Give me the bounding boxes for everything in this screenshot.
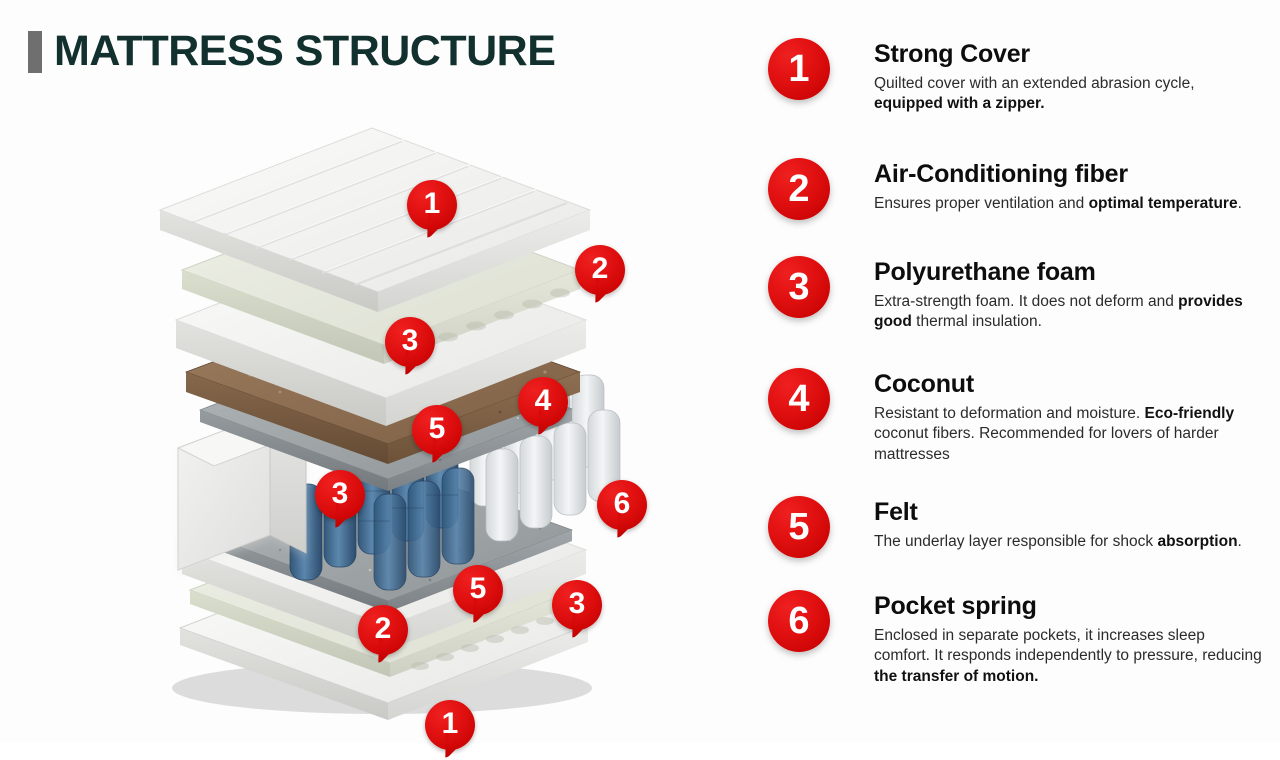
illustration-marker-5-felt-bottom[interactable]: 5	[453, 565, 503, 615]
legend-marker-1[interactable]: 1	[768, 38, 830, 100]
legend-marker-5[interactable]: 5	[768, 496, 830, 558]
legend-title-3: Polyurethane foam	[874, 258, 1262, 287]
legend-item-polyurethane-foam[interactable]: 3 Polyurethane foam Extra-strength foam.…	[762, 256, 1262, 333]
legend-pin-wrap-5: 5	[762, 496, 874, 558]
illustration-marker-2-fiber-top[interactable]: 2	[575, 245, 625, 295]
illustration-marker-3-foam-bottom[interactable]: 3	[552, 580, 602, 630]
legend-title-5: Felt	[874, 498, 1242, 527]
legend-marker-2[interactable]: 2	[768, 158, 830, 220]
legend-marker-4[interactable]: 4	[768, 368, 830, 430]
legend-pin-wrap-6: 6	[762, 590, 874, 652]
legend-desc-1: Quilted cover with an extended abrasion …	[874, 74, 1262, 115]
legend-item-air-conditioning-fiber[interactable]: 2 Air-Conditioning fiber Ensures proper …	[762, 158, 1242, 220]
legend-title-1: Strong Cover	[874, 40, 1262, 69]
legend-body-1: Strong Cover Quilted cover with an exten…	[874, 38, 1262, 115]
legend-body-6: Pocket spring Enclosed in separate pocke…	[874, 590, 1262, 687]
legend-item-strong-cover[interactable]: 1 Strong Cover Quilted cover with an ext…	[762, 38, 1262, 115]
infographic-page: MATTRESS STRUCTURE	[0, 0, 1280, 743]
illustration-marker-4-coconut[interactable]: 4	[518, 377, 568, 427]
legend-body-2: Air-Conditioning fiber Ensures proper ve…	[874, 158, 1242, 214]
legend-title-4: Coconut	[874, 370, 1262, 399]
legend-body-5: Felt The underlay layer responsible for …	[874, 496, 1242, 552]
legend-item-felt[interactable]: 5 Felt The underlay layer responsible fo…	[762, 496, 1242, 558]
mattress-illustration: 1 2 3 4 5 3 6 5 3 2 1	[120, 80, 640, 720]
legend-pin-wrap-1: 1	[762, 38, 874, 100]
legend-desc-2: Ensures proper ventilation and optimal t…	[874, 194, 1242, 214]
legend-pin-wrap-2: 2	[762, 158, 874, 220]
legend-desc-6: Enclosed in separate pockets, it increas…	[874, 626, 1262, 687]
title-text: MATTRESS STRUCTURE	[54, 30, 555, 73]
legend-item-pocket-spring[interactable]: 6 Pocket spring Enclosed in separate poc…	[762, 590, 1262, 687]
legend-body-4: Coconut Resistant to deformation and moi…	[874, 368, 1262, 465]
legend-title-2: Air-Conditioning fiber	[874, 160, 1242, 189]
legend-marker-6[interactable]: 6	[768, 590, 830, 652]
illustration-marker-1-top-cover[interactable]: 1	[407, 180, 457, 230]
legend-item-coconut[interactable]: 4 Coconut Resistant to deformation and m…	[762, 368, 1262, 465]
legend-marker-3[interactable]: 3	[768, 256, 830, 318]
illustration-marker-5-felt-top[interactable]: 5	[412, 405, 462, 455]
illustration-marker-2-fiber-bottom[interactable]: 2	[358, 605, 408, 655]
legend-desc-3: Extra-strength foam. It does not deform …	[874, 292, 1262, 333]
illustration-marker-3-foam-border[interactable]: 3	[315, 470, 365, 520]
legend-desc-5: The underlay layer responsible for shock…	[874, 532, 1242, 552]
illustration-marker-3-foam-top[interactable]: 3	[385, 317, 435, 367]
title-accent-bar	[28, 31, 42, 73]
legend-desc-4: Resistant to deformation and moisture. E…	[874, 404, 1262, 465]
legend-pin-wrap-3: 3	[762, 256, 874, 318]
legend-title-6: Pocket spring	[874, 592, 1262, 621]
illustration-marker-6-pocket-spring[interactable]: 6	[597, 480, 647, 530]
page-title: MATTRESS STRUCTURE	[28, 30, 555, 73]
legend-body-3: Polyurethane foam Extra-strength foam. I…	[874, 256, 1262, 333]
legend-pin-wrap-4: 4	[762, 368, 874, 430]
